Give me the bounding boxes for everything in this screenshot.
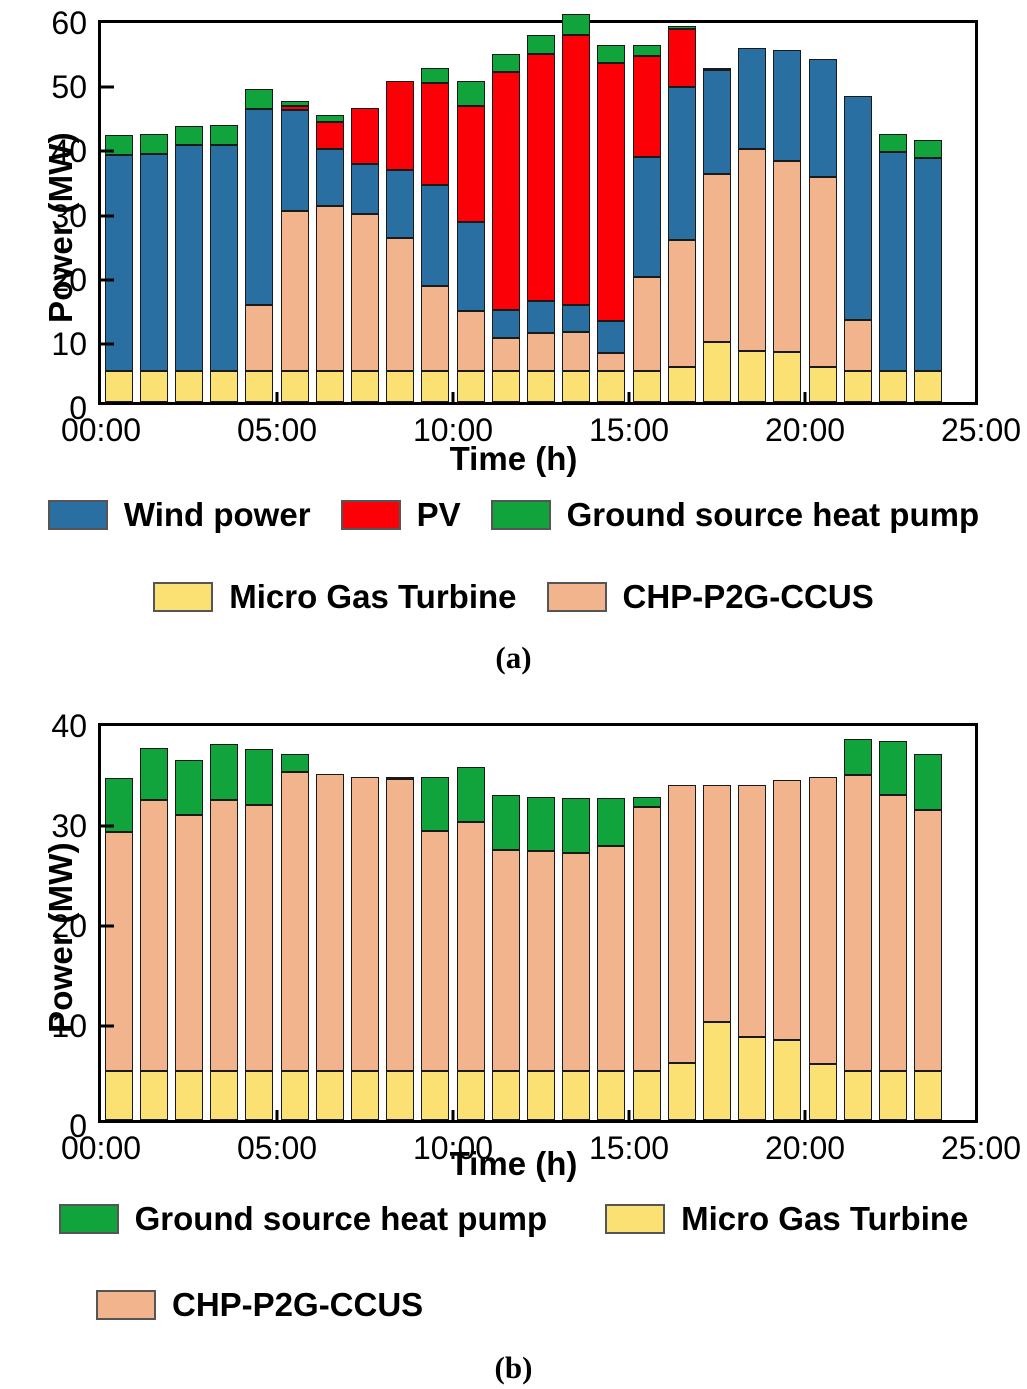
- bar-segment: [175, 815, 203, 1071]
- bar-segment: [879, 371, 907, 402]
- bar-segment: [281, 106, 309, 110]
- bar-segment: [527, 851, 555, 1071]
- bar-segment: [527, 1071, 555, 1120]
- stacked-bar: [316, 17, 344, 402]
- bar-segment: [351, 777, 379, 1071]
- y-tick-mark: [101, 214, 114, 217]
- legend-item: Micro Gas Turbine: [605, 1200, 968, 1238]
- legend-swatch: [547, 582, 607, 612]
- bar-segment: [105, 371, 133, 402]
- legend-item: CHP-P2G-CCUS: [96, 1286, 423, 1324]
- legend-item: Micro Gas Turbine: [153, 578, 516, 616]
- stacked-bar: [421, 720, 449, 1120]
- y-tick-label: 30: [51, 810, 101, 842]
- bar-segment: [914, 1071, 942, 1120]
- bar-segment: [844, 739, 872, 775]
- bar-segment: [668, 785, 696, 1063]
- bar-segment: [703, 174, 731, 341]
- x-tick-mark: [804, 392, 807, 402]
- stacked-bar: [281, 720, 309, 1120]
- bar-segment: [773, 1040, 801, 1120]
- legend-a: Wind powerPVGround source heat pumpMicro…: [0, 496, 1027, 616]
- legend-label: CHP-P2G-CCUS: [172, 1286, 423, 1324]
- bar-segment: [316, 774, 344, 1071]
- bar-segment: [421, 1071, 449, 1120]
- bar-segment: [914, 754, 942, 810]
- stacked-bar: [597, 17, 625, 402]
- bar-segment: [457, 311, 485, 371]
- bar-segment: [245, 371, 273, 402]
- x-axis-label-b: Time (h): [0, 1145, 1027, 1183]
- bar-segment: [668, 1063, 696, 1120]
- stacked-bar: [457, 17, 485, 402]
- stacked-bar: [844, 720, 872, 1120]
- y-tick-mark: [101, 278, 114, 281]
- panel-caption-a: (a): [0, 640, 1027, 676]
- y-tick-label: 10: [51, 1010, 101, 1042]
- y-tick-label: 20: [51, 910, 101, 942]
- stacked-bar: [633, 17, 661, 402]
- stacked-bar: [421, 17, 449, 402]
- legend-label: CHP-P2G-CCUS: [623, 578, 874, 616]
- panel-b: Power (MW) 01020304000:0005:0010:0015:00…: [0, 690, 1027, 1389]
- y-tick-mark: [101, 86, 114, 89]
- bar-segment: [668, 29, 696, 87]
- stacked-bar: [738, 720, 766, 1120]
- bar-segment: [809, 1064, 837, 1120]
- legend-row: CHP-P2G-CCUS: [0, 1286, 1027, 1324]
- legend-swatch: [153, 582, 213, 612]
- legend-label: Ground source heat pump: [567, 496, 980, 534]
- stacked-bar: [527, 17, 555, 402]
- stacked-bar: [703, 17, 731, 402]
- bar-segment: [351, 164, 379, 214]
- bar-segment: [844, 371, 872, 402]
- bar-segment: [773, 161, 801, 352]
- bar-segment: [140, 1071, 168, 1120]
- bar-segment: [492, 310, 520, 339]
- figure-stacked-power-dispatch: Power (MW) 010203040506000:0005:0010:001…: [0, 0, 1027, 1389]
- y-tick-mark: [101, 342, 114, 345]
- bar-segment: [914, 158, 942, 371]
- x-tick-mark: [628, 392, 631, 402]
- stacked-bar: [562, 17, 590, 402]
- bar-segment: [738, 351, 766, 402]
- bar-segment: [633, 807, 661, 1071]
- y-tick-label: 50: [51, 71, 101, 103]
- bar-segment: [140, 800, 168, 1071]
- bar-segment: [527, 797, 555, 851]
- legend-row: Micro Gas TurbineCHP-P2G-CCUS: [0, 578, 1027, 616]
- stacked-bar: [562, 720, 590, 1120]
- bar-segment: [914, 810, 942, 1071]
- y-tick-label: 40: [51, 135, 101, 167]
- bar-segment: [633, 1071, 661, 1120]
- y-tick-mark: [101, 925, 114, 928]
- bar-segment: [140, 748, 168, 800]
- stacked-bar: [175, 720, 203, 1120]
- bar-segment: [844, 775, 872, 1071]
- bar-segment: [527, 54, 555, 301]
- bar-segment: [140, 371, 168, 402]
- bar-segment: [738, 48, 766, 149]
- bar-segment: [316, 115, 344, 122]
- bar-segment: [527, 301, 555, 332]
- bar-segment: [245, 89, 273, 109]
- bar-segment: [316, 206, 344, 370]
- y-tick-label: 60: [51, 7, 101, 39]
- bar-segment: [351, 214, 379, 371]
- stacked-bar: [457, 720, 485, 1120]
- bar-segment: [316, 371, 344, 402]
- stacked-bar: [527, 720, 555, 1120]
- stacked-bar: [351, 17, 379, 402]
- legend-label: PV: [417, 496, 461, 534]
- bar-segment: [421, 831, 449, 1071]
- x-tick-mark: [452, 1110, 455, 1120]
- bar-segment: [457, 822, 485, 1071]
- bar-segment: [703, 1022, 731, 1120]
- legend-label: Wind power: [124, 496, 311, 534]
- bar-segment: [140, 134, 168, 154]
- bar-segment: [633, 371, 661, 402]
- x-tick-mark: [276, 1110, 279, 1120]
- bar-segment: [281, 101, 309, 106]
- bar-segment: [879, 152, 907, 371]
- bar-segment: [562, 332, 590, 371]
- bar-segment: [421, 777, 449, 831]
- bar-segment: [492, 795, 520, 850]
- bar-segment: [281, 772, 309, 1071]
- stacked-bar: [492, 720, 520, 1120]
- bar-segment: [633, 277, 661, 371]
- y-tick-label: 40: [51, 710, 101, 742]
- stacked-bar: [245, 17, 273, 402]
- bar-segment: [210, 800, 238, 1071]
- bar-segment: [175, 126, 203, 145]
- bar-segment: [105, 1071, 133, 1120]
- stacked-bar: [879, 720, 907, 1120]
- bar-segment: [316, 149, 344, 206]
- bar-segment: [633, 56, 661, 157]
- bar-segment: [597, 798, 625, 846]
- bar-segment: [175, 1071, 203, 1120]
- bar-segment: [597, 353, 625, 370]
- bar-segment: [668, 367, 696, 402]
- bar-segment: [421, 185, 449, 286]
- stacked-bar: [140, 17, 168, 402]
- bar-segment: [210, 145, 238, 371]
- legend-swatch: [491, 500, 551, 530]
- stacked-bar: [245, 720, 273, 1120]
- bar-segment: [738, 1037, 766, 1120]
- stacked-bar: [773, 720, 801, 1120]
- x-tick-mark: [452, 392, 455, 402]
- legend-swatch: [605, 1204, 665, 1234]
- bar-segment: [809, 59, 837, 177]
- bar-segment: [773, 780, 801, 1040]
- stacked-bar: [210, 17, 238, 402]
- bar-segment: [175, 371, 203, 402]
- legend-swatch: [48, 500, 108, 530]
- stacked-bar: [386, 17, 414, 402]
- bar-segment: [351, 1071, 379, 1120]
- x-tick-mark: [276, 392, 279, 402]
- legend-b: Ground source heat pumpMicro Gas Turbine…: [0, 1200, 1027, 1324]
- bar-segment: [492, 850, 520, 1071]
- bar-segment: [386, 1071, 414, 1120]
- bar-segment: [562, 14, 590, 35]
- stacked-bar: [386, 720, 414, 1120]
- bar-segment: [316, 122, 344, 150]
- y-tick-label: 20: [51, 264, 101, 296]
- bar-segment: [457, 1071, 485, 1120]
- stacked-bar: [668, 17, 696, 402]
- bar-segment: [633, 157, 661, 277]
- bar-segment: [175, 145, 203, 370]
- bar-segment: [386, 777, 414, 779]
- bar-segment: [844, 1071, 872, 1120]
- bar-segment: [703, 68, 731, 71]
- bar-segment: [140, 154, 168, 370]
- stacked-bar: [914, 720, 942, 1120]
- bar-segment: [562, 798, 590, 853]
- legend-item: Ground source heat pump: [491, 496, 980, 534]
- y-tick-mark: [101, 1025, 114, 1028]
- bar-segment: [210, 125, 238, 144]
- bar-segment: [421, 371, 449, 402]
- bar-segment: [562, 305, 590, 332]
- bar-segment: [809, 367, 837, 402]
- bar-segment: [421, 68, 449, 83]
- bar-segment: [597, 45, 625, 62]
- x-tick-mark: [628, 1110, 631, 1120]
- stacked-bar: [844, 17, 872, 402]
- bar-segment: [738, 785, 766, 1037]
- stacked-bar: [633, 720, 661, 1120]
- bar-segment: [703, 342, 731, 402]
- bar-segment: [386, 371, 414, 402]
- y-tick-mark: [101, 150, 114, 153]
- stacked-bar: [175, 17, 203, 402]
- stacked-bar: [316, 720, 344, 1120]
- bar-segment: [281, 371, 309, 402]
- legend-label: Micro Gas Turbine: [681, 1200, 968, 1238]
- bar-segment: [210, 1071, 238, 1120]
- bar-segment: [351, 108, 379, 164]
- stacked-bar: [210, 720, 238, 1120]
- bar-segment: [210, 744, 238, 800]
- y-tick-mark: [101, 825, 114, 828]
- legend-swatch: [96, 1290, 156, 1320]
- x-axis-label-a: Time (h): [0, 440, 1027, 478]
- bar-segment: [421, 83, 449, 185]
- bar-segment: [281, 110, 309, 211]
- bar-segment: [562, 35, 590, 305]
- bar-segment: [245, 805, 273, 1071]
- bar-segment: [633, 45, 661, 56]
- bar-segment: [492, 54, 520, 71]
- stacked-bar: [668, 720, 696, 1120]
- stacked-bar: [809, 720, 837, 1120]
- bar-segment: [492, 72, 520, 310]
- legend-swatch: [59, 1204, 119, 1234]
- bar-segment: [281, 211, 309, 371]
- bar-segment: [386, 779, 414, 1071]
- bar-segment: [879, 795, 907, 1071]
- stacked-bar: [105, 720, 133, 1120]
- bar-segment: [879, 1071, 907, 1120]
- legend-label: Micro Gas Turbine: [229, 578, 516, 616]
- stacked-bar: [773, 17, 801, 402]
- bar-segment: [527, 371, 555, 402]
- x-tick-mark: [804, 1110, 807, 1120]
- stacked-bar: [597, 720, 625, 1120]
- bar-segment: [738, 149, 766, 351]
- legend-item: CHP-P2G-CCUS: [547, 578, 874, 616]
- legend-item: PV: [341, 496, 461, 534]
- bar-segment: [210, 371, 238, 402]
- bar-segment: [668, 26, 696, 29]
- bar-segment: [914, 371, 942, 402]
- y-tick-label: 30: [51, 200, 101, 232]
- bar-segment: [281, 1071, 309, 1120]
- bar-segment: [386, 238, 414, 370]
- bar-segment: [844, 96, 872, 320]
- plot-area-b: 01020304000:0005:0010:0015:0020:0025:00: [98, 723, 978, 1123]
- bar-segment: [245, 109, 273, 305]
- bar-segment: [245, 1071, 273, 1120]
- stacked-bar: [281, 17, 309, 402]
- bar-segment: [562, 853, 590, 1071]
- bar-segment: [281, 754, 309, 772]
- bar-segment: [492, 338, 520, 370]
- stacked-bar: [703, 720, 731, 1120]
- bar-segment: [914, 140, 942, 158]
- bar-segment: [386, 170, 414, 239]
- stacked-bar: [738, 17, 766, 402]
- legend-item: Wind power: [48, 496, 311, 534]
- bar-segment: [633, 797, 661, 807]
- bar-segment: [527, 35, 555, 54]
- bar-group-b: [101, 726, 975, 1120]
- bar-segment: [562, 371, 590, 402]
- legend-label: Ground source heat pump: [135, 1200, 548, 1238]
- bar-segment: [668, 240, 696, 367]
- bar-group-a: [101, 23, 975, 402]
- bar-segment: [175, 760, 203, 815]
- legend-swatch: [341, 500, 401, 530]
- plot-area-a: 010203040506000:0005:0010:0015:0020:0025…: [98, 20, 978, 405]
- bar-segment: [773, 352, 801, 402]
- stacked-bar: [351, 720, 379, 1120]
- stacked-bar: [492, 17, 520, 402]
- legend-item: Ground source heat pump: [59, 1200, 548, 1238]
- bar-segment: [457, 81, 485, 105]
- bar-segment: [703, 785, 731, 1022]
- bar-segment: [351, 371, 379, 402]
- bar-segment: [597, 63, 625, 322]
- bar-segment: [668, 87, 696, 240]
- stacked-bar: [879, 17, 907, 402]
- legend-row: Ground source heat pumpMicro Gas Turbine: [0, 1200, 1027, 1238]
- bar-segment: [562, 1071, 590, 1120]
- bar-segment: [597, 371, 625, 402]
- bar-segment: [773, 50, 801, 160]
- bar-segment: [844, 320, 872, 371]
- bar-segment: [597, 1071, 625, 1120]
- bar-segment: [703, 70, 731, 174]
- bar-segment: [386, 81, 414, 170]
- bar-segment: [245, 749, 273, 805]
- legend-row: Wind powerPVGround source heat pump: [0, 496, 1027, 534]
- bar-segment: [105, 832, 133, 1071]
- bar-segment: [597, 846, 625, 1071]
- panel-caption-b: (b): [0, 1350, 1027, 1386]
- bar-segment: [879, 741, 907, 795]
- stacked-bar: [140, 720, 168, 1120]
- y-tick-label: 10: [51, 328, 101, 360]
- bar-segment: [492, 371, 520, 402]
- bar-segment: [457, 106, 485, 222]
- bar-segment: [809, 777, 837, 1064]
- bar-segment: [457, 767, 485, 822]
- bar-segment: [457, 222, 485, 311]
- bar-segment: [245, 305, 273, 370]
- panel-a: Power (MW) 010203040506000:0005:0010:001…: [0, 0, 1027, 680]
- stacked-bar: [809, 17, 837, 402]
- bar-segment: [105, 155, 133, 371]
- bar-segment: [492, 1071, 520, 1120]
- bar-segment: [316, 1071, 344, 1120]
- stacked-bar: [914, 17, 942, 402]
- bar-segment: [809, 177, 837, 366]
- bar-segment: [597, 321, 625, 353]
- bar-segment: [421, 286, 449, 371]
- bar-segment: [879, 134, 907, 152]
- bar-segment: [457, 371, 485, 402]
- bar-segment: [527, 333, 555, 371]
